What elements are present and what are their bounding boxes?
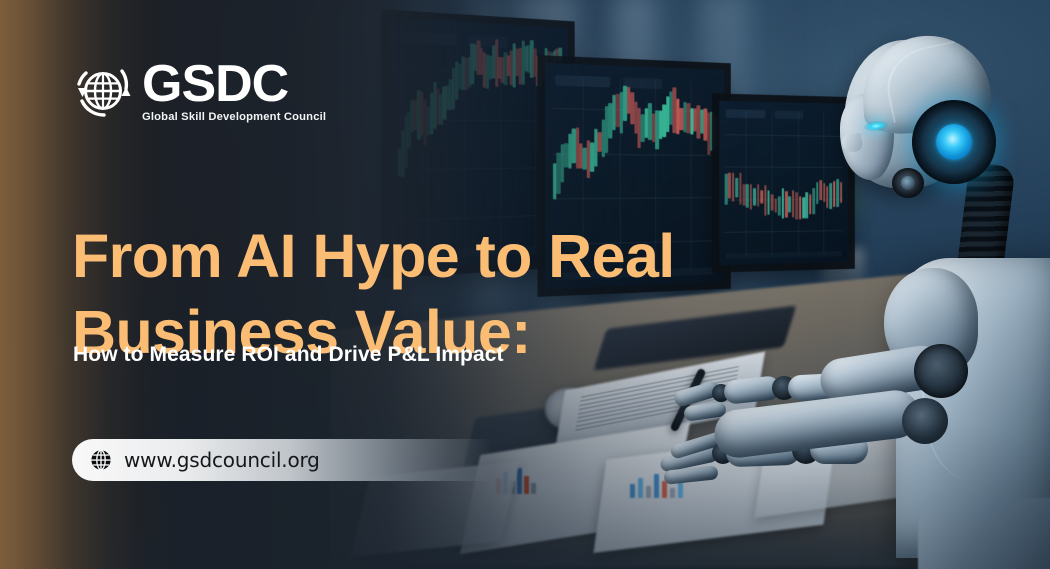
- content-layer: GSDC Global Skill Development Council Fr…: [0, 0, 1050, 569]
- headline-line-1: From AI Hype to Real: [72, 219, 762, 295]
- logo-wordmark: GSDC: [142, 61, 326, 109]
- website-url-bar[interactable]: www.gsdcouncil.org: [72, 439, 492, 481]
- page-subtitle: How to Measure ROI and Drive P&L Impact: [73, 343, 504, 367]
- globe-icon: [90, 449, 112, 471]
- gsdc-logo[interactable]: GSDC Global Skill Development Council: [70, 57, 326, 127]
- banner: GSDC Global Skill Development Council Fr…: [0, 0, 1050, 569]
- website-url-text: www.gsdcouncil.org: [124, 448, 320, 472]
- globe-refresh-icon: [70, 57, 136, 127]
- logo-tagline: Global Skill Development Council: [142, 111, 326, 123]
- logo-text-block: GSDC Global Skill Development Council: [142, 61, 326, 124]
